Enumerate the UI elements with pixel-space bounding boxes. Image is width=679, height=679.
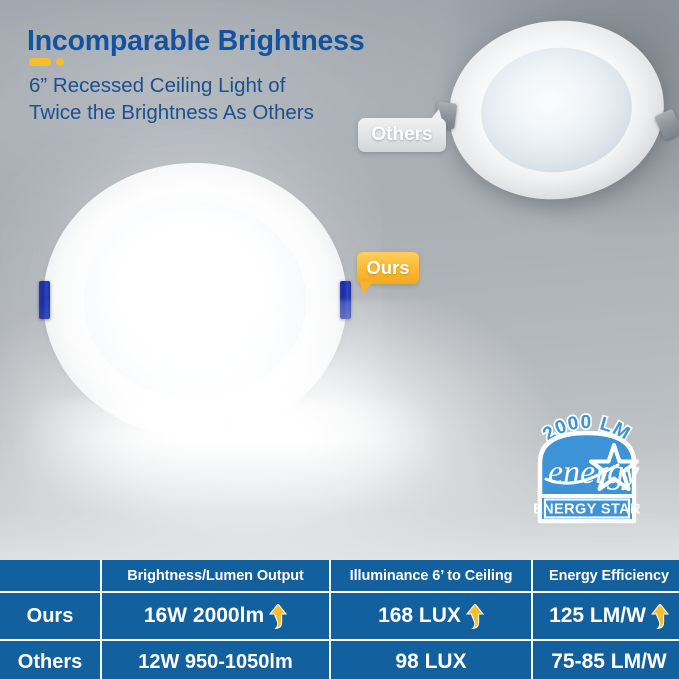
table-cell-ours-efficiency-text: 125 LM/W bbox=[549, 604, 646, 628]
accent-bar-icon bbox=[29, 58, 51, 66]
page-subtitle: 6” Recessed Ceiling Light of Twice the B… bbox=[29, 72, 314, 126]
ours-light-panel bbox=[84, 203, 306, 399]
callout-others-label: Others bbox=[371, 124, 432, 146]
product-comparison-image: Incomparable Brightness 6” Recessed Ceil… bbox=[0, 0, 679, 679]
badge-bottom-text: ENERGY STAR bbox=[533, 502, 641, 518]
subtitle-line-2: Twice the Brightness As Others bbox=[29, 99, 314, 126]
table-row-label-ours: Ours bbox=[0, 593, 100, 639]
page-title: Incomparable Brightness bbox=[27, 25, 364, 58]
accent-dot-icon bbox=[56, 58, 64, 66]
subtitle-line-1: 6” Recessed Ceiling Light of bbox=[29, 72, 314, 99]
up-arrow-icon bbox=[651, 604, 669, 629]
table-cell-ours-efficiency: 125 LM/W bbox=[533, 593, 679, 639]
table-cell-others-efficiency: 75-85 LM/W bbox=[533, 641, 679, 679]
ours-spring-clip-left bbox=[39, 281, 50, 319]
callout-ours-label: Ours bbox=[366, 257, 409, 279]
up-arrow-icon bbox=[466, 604, 484, 629]
table-header-brightness: Brightness/Lumen Output bbox=[102, 560, 329, 591]
table-cell-others-brightness: 12W 950-1050lm bbox=[102, 641, 329, 679]
badge-script-text: energy bbox=[548, 454, 640, 491]
up-arrow-icon bbox=[269, 604, 287, 629]
energy-star-badge: 2000 LM energy ENERGY STAR bbox=[518, 403, 656, 531]
comparison-table: Brightness/Lumen Output Illuminance 6’ t… bbox=[0, 560, 679, 679]
ours-recessed-light bbox=[43, 163, 347, 437]
table-row-label-others: Others bbox=[0, 641, 100, 679]
callout-ours: Ours bbox=[357, 252, 419, 284]
table-corner-cell bbox=[0, 560, 100, 591]
table-cell-ours-illuminance-text: 168 LUX bbox=[378, 604, 461, 628]
table-cell-ours-brightness-text: 16W 2000lm bbox=[144, 604, 264, 628]
accent-marker bbox=[29, 58, 64, 66]
callout-others-tail-icon bbox=[430, 109, 442, 120]
energy-star-badge-icon: 2000 LM energy ENERGY STAR bbox=[518, 403, 656, 531]
table-cell-ours-illuminance: 168 LUX bbox=[331, 593, 531, 639]
table-header-efficiency: Energy Efficiency bbox=[533, 560, 679, 591]
ours-spring-clip-right bbox=[340, 281, 351, 319]
table-header-illuminance: Illuminance 6’ to Ceiling bbox=[331, 560, 531, 591]
table-cell-others-illuminance: 98 LUX bbox=[331, 641, 531, 679]
callout-ours-tail-icon bbox=[360, 282, 373, 294]
others-recessed-light bbox=[439, 9, 674, 212]
table-cell-ours-brightness: 16W 2000lm bbox=[102, 593, 329, 639]
callout-others: Others bbox=[358, 118, 446, 152]
